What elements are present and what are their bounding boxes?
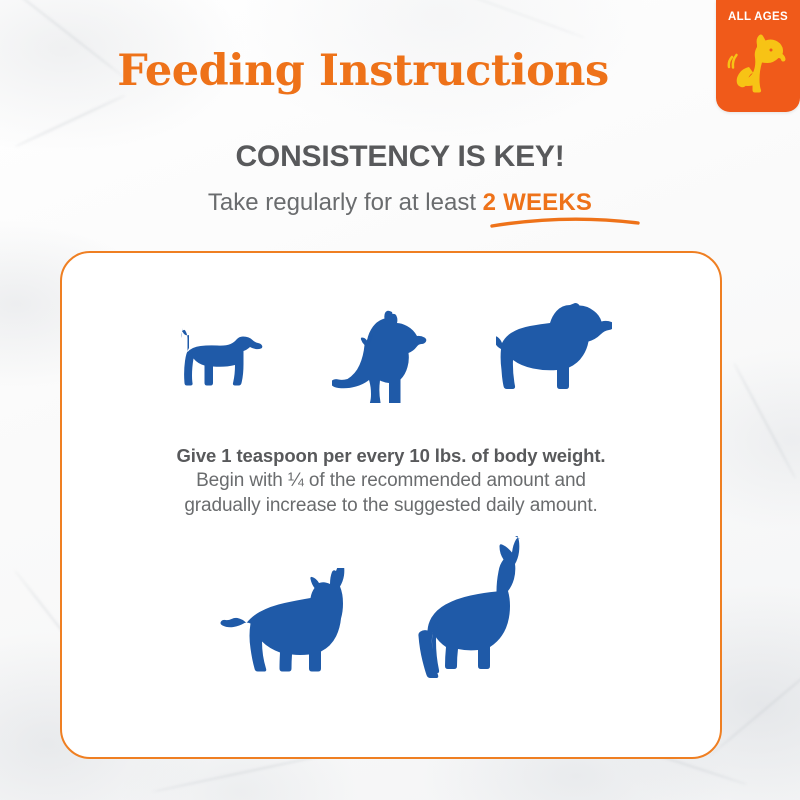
dog-row-top [62, 301, 720, 403]
small-dog-standing-icon [171, 321, 266, 403]
tagline-prefix: Take regularly for at least [208, 189, 476, 216]
marble-vein [435, 0, 586, 39]
all-ages-badge-label: ALL AGES [716, 11, 800, 23]
marble-vein [709, 646, 800, 757]
instructions-line-2: gradually increase to the suggested dail… [62, 495, 720, 517]
sitting-dog-icon [727, 30, 789, 101]
labrador-standing-icon [496, 301, 612, 403]
instructions-headline: Give 1 teaspoon per every 10 lbs. of bod… [62, 445, 720, 467]
tagline-highlight: 2 WEEKS [483, 189, 592, 216]
feeding-instructions-page: ALL AGES Feeding Instructions CONSISTENC… [0, 0, 800, 800]
medium-dog-sitting-icon [332, 307, 430, 403]
feeding-instructions-text: Give 1 teaspoon per every 10 lbs. of bod… [62, 445, 720, 517]
subtitle: CONSISTENCY IS KEY! [0, 140, 800, 174]
great-dane-standing-icon [416, 536, 562, 698]
page-title: Feeding Instructions [0, 46, 726, 96]
dog-row-bottom [62, 536, 720, 698]
all-ages-badge: ALL AGES [716, 0, 800, 112]
german-shepherd-standing-icon [220, 568, 368, 698]
marble-vein [734, 363, 796, 479]
instructions-card: Give 1 teaspoon per every 10 lbs. of bod… [60, 251, 722, 759]
instructions-line-1: Begin with ¼ of the recommended amount a… [62, 470, 720, 492]
tagline: Take regularly for at least 2 WEEKS [0, 189, 800, 217]
